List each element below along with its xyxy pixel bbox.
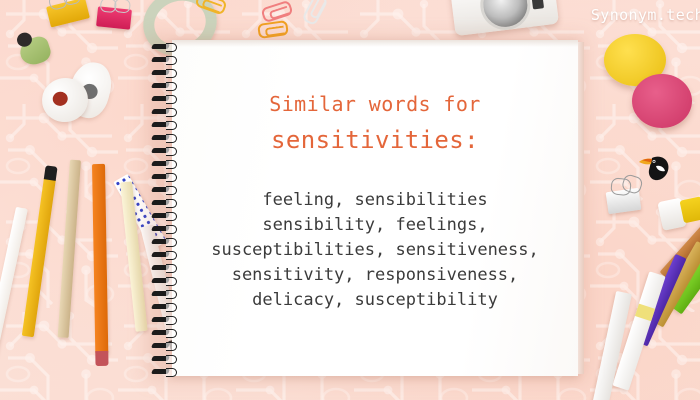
macaron-pink — [632, 74, 692, 128]
page-title: Similar words for — [269, 92, 481, 116]
binder-clip-pink-icon — [96, 6, 132, 29]
camera-button — [532, 0, 544, 10]
site-branding: Synonym.tech — [591, 6, 700, 24]
binder-clip-silver-icon — [606, 188, 642, 214]
synonym-line: delicacy, susceptibility — [211, 288, 539, 313]
desk-scene: Similar words for sensitivities: feeling… — [0, 0, 700, 400]
synonym-line: feeling, sensibilities — [211, 188, 539, 213]
synonym-line: sensibility, feelings, — [211, 213, 539, 238]
toucan-figurine — [638, 152, 672, 182]
synonym-line: susceptibilities, sensitiveness, — [211, 238, 539, 263]
notebook: Similar words for sensitivities: feeling… — [150, 40, 578, 376]
synonym-list: feeling, sensibilities sensibility, feel… — [211, 188, 539, 313]
headword: sensitivities: — [271, 126, 479, 154]
glue-stick-body — [679, 196, 700, 223]
notebook-text: Similar words for sensitivities: feeling… — [172, 40, 578, 376]
synonym-line: sensitivity, responsiveness, — [211, 263, 539, 288]
page-right-edge — [578, 42, 584, 374]
